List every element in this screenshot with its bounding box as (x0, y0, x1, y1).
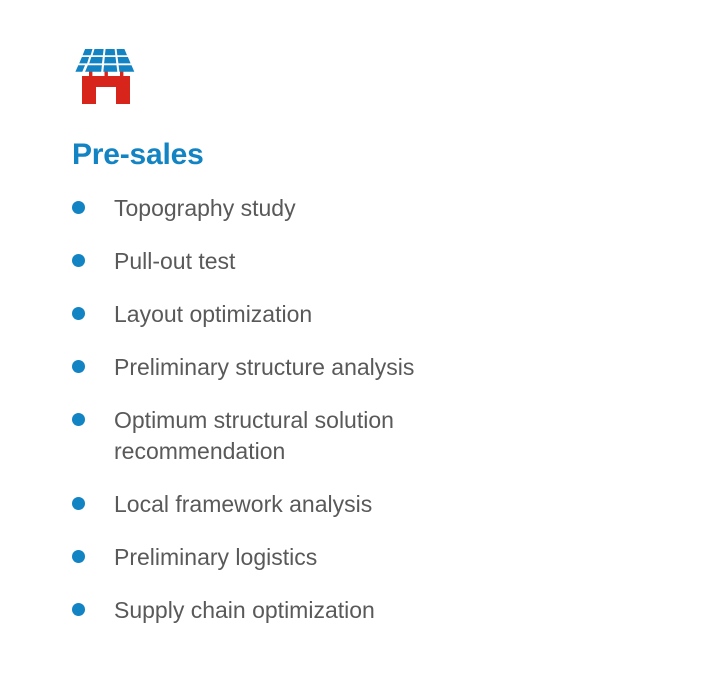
pre-sales-card: Pre-sales Topography study Pull-out test… (0, 0, 710, 696)
list-item-label: Preliminary structure analysis (114, 352, 414, 383)
bullet-icon (72, 550, 85, 563)
list-item: Supply chain optimization (72, 595, 670, 626)
bullet-icon (72, 497, 85, 510)
list-item: Preliminary structure analysis (72, 352, 670, 383)
list-item-label: Layout optimization (114, 299, 312, 330)
list-item: Layout optimization (72, 299, 670, 330)
list-item-label: Supply chain optimization (114, 595, 375, 626)
list-item-label: Optimum structural solution recommendati… (114, 405, 514, 467)
list-item-label: Local framework analysis (114, 489, 372, 520)
bullet-icon (72, 603, 85, 616)
solar-panel-building-icon (72, 46, 140, 108)
bullet-icon (72, 360, 85, 373)
list-item-label: Preliminary logistics (114, 542, 317, 573)
list-item-label: Pull-out test (114, 246, 235, 277)
list-item: Topography study (72, 193, 670, 224)
page-title: Pre-sales (72, 138, 670, 171)
list-item: Local framework analysis (72, 489, 670, 520)
bullet-icon (72, 254, 85, 267)
list-item: Preliminary logistics (72, 542, 670, 573)
feature-list: Topography study Pull-out test Layout op… (72, 193, 670, 626)
bullet-icon (72, 413, 85, 426)
list-item-label: Topography study (114, 193, 296, 224)
bullet-icon (72, 307, 85, 320)
list-item: Optimum structural solution recommendati… (72, 405, 670, 467)
bullet-icon (72, 201, 85, 214)
list-item: Pull-out test (72, 246, 670, 277)
